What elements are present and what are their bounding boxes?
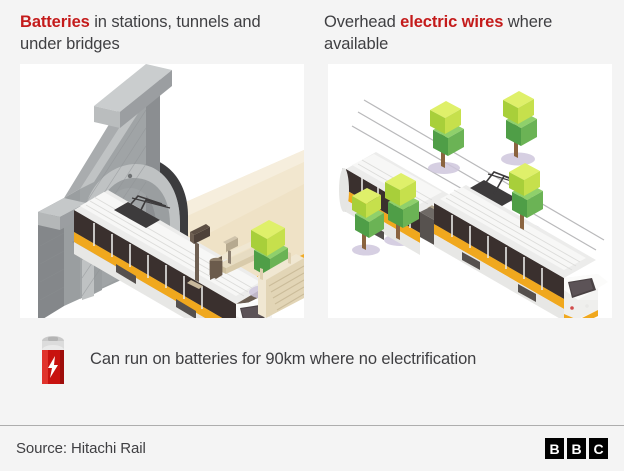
overhead-wires-illustration <box>328 64 612 318</box>
bbc-logo: B B C <box>545 438 608 459</box>
heading-right-lead: Overhead <box>324 13 400 31</box>
battery-icon <box>36 334 70 386</box>
headings-row: Batteries in stations, tunnels and under… <box>0 0 624 56</box>
heading-right-highlight: electric wires <box>400 13 503 31</box>
heading-left: Batteries in stations, tunnels and under… <box>20 12 300 56</box>
caption-text: Can run on batteries for 90km where no e… <box>90 350 476 369</box>
bbc-infographic: Batteries in stations, tunnels and under… <box>0 0 624 471</box>
bbc-logo-letter-2: B <box>567 438 586 459</box>
caption-row: Can run on batteries for 90km where no e… <box>0 318 624 388</box>
panel-left <box>20 64 304 318</box>
panels-row <box>0 56 624 318</box>
bbc-logo-letter-1: B <box>545 438 564 459</box>
panel-right <box>328 64 612 318</box>
source-label: Source: Hitachi Rail <box>16 440 146 457</box>
heading-left-highlight: Batteries <box>20 13 90 31</box>
battery-operation-illustration <box>20 64 304 318</box>
heading-right: Overhead electric wires where available <box>324 12 604 56</box>
footer: Source: Hitachi Rail B B C <box>0 425 624 471</box>
bbc-logo-letter-3: C <box>589 438 608 459</box>
